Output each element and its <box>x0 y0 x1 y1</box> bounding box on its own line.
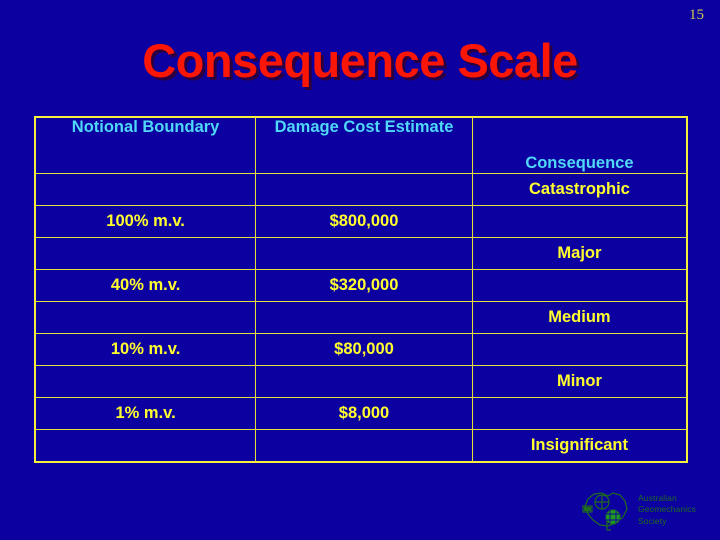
cell-damage-cost-estimate: $8,000 <box>256 398 473 430</box>
ags-logo-line-3: Society <box>638 516 696 527</box>
page-title: Consequence Scale <box>0 36 720 85</box>
cell-consequence <box>472 270 687 302</box>
cell-notional-boundary: 40% m.v. <box>35 270 256 302</box>
cell-consequence <box>472 334 687 366</box>
cell-consequence: Minor <box>472 366 687 398</box>
table-row: Major <box>35 238 687 270</box>
ags-logo: Australian Geomechanics Society <box>580 486 715 534</box>
table-row: 1% m.v.$8,000 <box>35 398 687 430</box>
table-row: Insignificant <box>35 430 687 463</box>
table-row: Medium <box>35 302 687 334</box>
column-header-consequence: Consequence <box>472 117 687 174</box>
cell-notional-boundary: 10% m.v. <box>35 334 256 366</box>
australia-map-icon <box>580 487 632 533</box>
cell-consequence: Major <box>472 238 687 270</box>
cell-consequence: Medium <box>472 302 687 334</box>
table-header: Notional Boundary Damage Cost Estimate C… <box>35 117 687 174</box>
cell-consequence <box>472 206 687 238</box>
ags-logo-text: Australian Geomechanics Society <box>638 493 696 527</box>
cell-notional-boundary <box>35 174 256 206</box>
cell-notional-boundary <box>35 302 256 334</box>
table-header-row: Notional Boundary Damage Cost Estimate C… <box>35 117 687 174</box>
cell-notional-boundary <box>35 238 256 270</box>
cell-notional-boundary: 100% m.v. <box>35 206 256 238</box>
cell-damage-cost-estimate <box>256 366 473 398</box>
cell-consequence: Catastrophic <box>472 174 687 206</box>
cell-damage-cost-estimate: $320,000 <box>256 270 473 302</box>
ags-logo-line-1: Australian <box>638 493 696 504</box>
cell-notional-boundary <box>35 366 256 398</box>
cell-consequence: Insignificant <box>472 430 687 463</box>
table-body: Catastrophic100% m.v.$800,000Major40% m.… <box>35 174 687 463</box>
cell-damage-cost-estimate <box>256 174 473 206</box>
cell-damage-cost-estimate <box>256 238 473 270</box>
table-row: 100% m.v.$800,000 <box>35 206 687 238</box>
cell-consequence <box>472 398 687 430</box>
cell-damage-cost-estimate <box>256 430 473 463</box>
table-row: Minor <box>35 366 687 398</box>
cell-notional-boundary <box>35 430 256 463</box>
table-row: Catastrophic <box>35 174 687 206</box>
cell-damage-cost-estimate: $800,000 <box>256 206 473 238</box>
ags-logo-line-2: Geomechanics <box>638 504 696 515</box>
page-number: 15 <box>689 8 704 23</box>
table-row: 10% m.v.$80,000 <box>35 334 687 366</box>
cell-damage-cost-estimate: $80,000 <box>256 334 473 366</box>
cell-damage-cost-estimate <box>256 302 473 334</box>
consequence-table: Notional Boundary Damage Cost Estimate C… <box>34 116 688 463</box>
column-header-notional-boundary: Notional Boundary <box>35 117 256 174</box>
table-row: 40% m.v.$320,000 <box>35 270 687 302</box>
cell-notional-boundary: 1% m.v. <box>35 398 256 430</box>
column-header-damage-cost-estimate: Damage Cost Estimate <box>256 117 473 174</box>
